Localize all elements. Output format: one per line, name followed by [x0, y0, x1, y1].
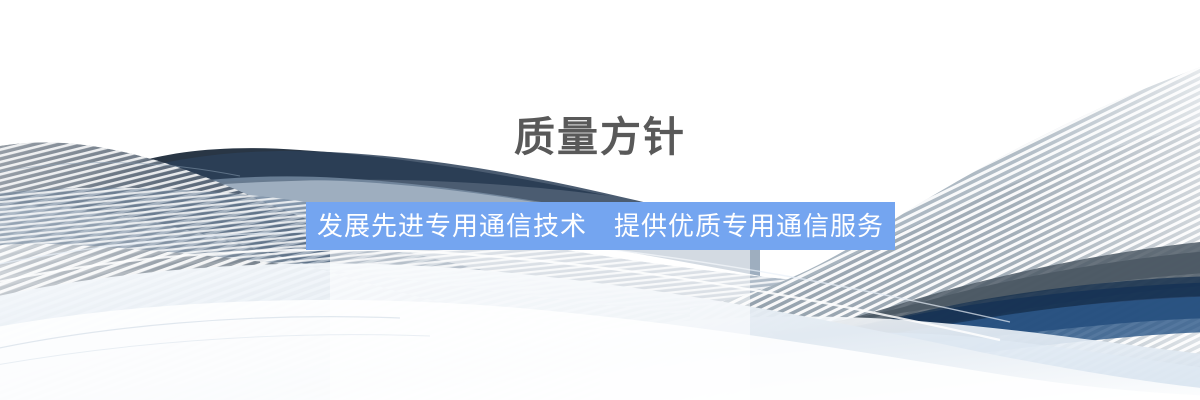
banner-text-layer: 质量方针 发展先进专用通信技术 提供优质专用通信服务	[0, 0, 1200, 400]
slogan-text: 发展先进专用通信技术 提供优质专用通信服务	[317, 202, 884, 250]
quality-policy-banner: 质量方针 发展先进专用通信技术 提供优质专用通信服务	[0, 0, 1200, 400]
slogan-band: 发展先进专用通信技术 提供优质专用通信服务	[306, 202, 895, 250]
page-title: 质量方针	[0, 112, 1200, 162]
